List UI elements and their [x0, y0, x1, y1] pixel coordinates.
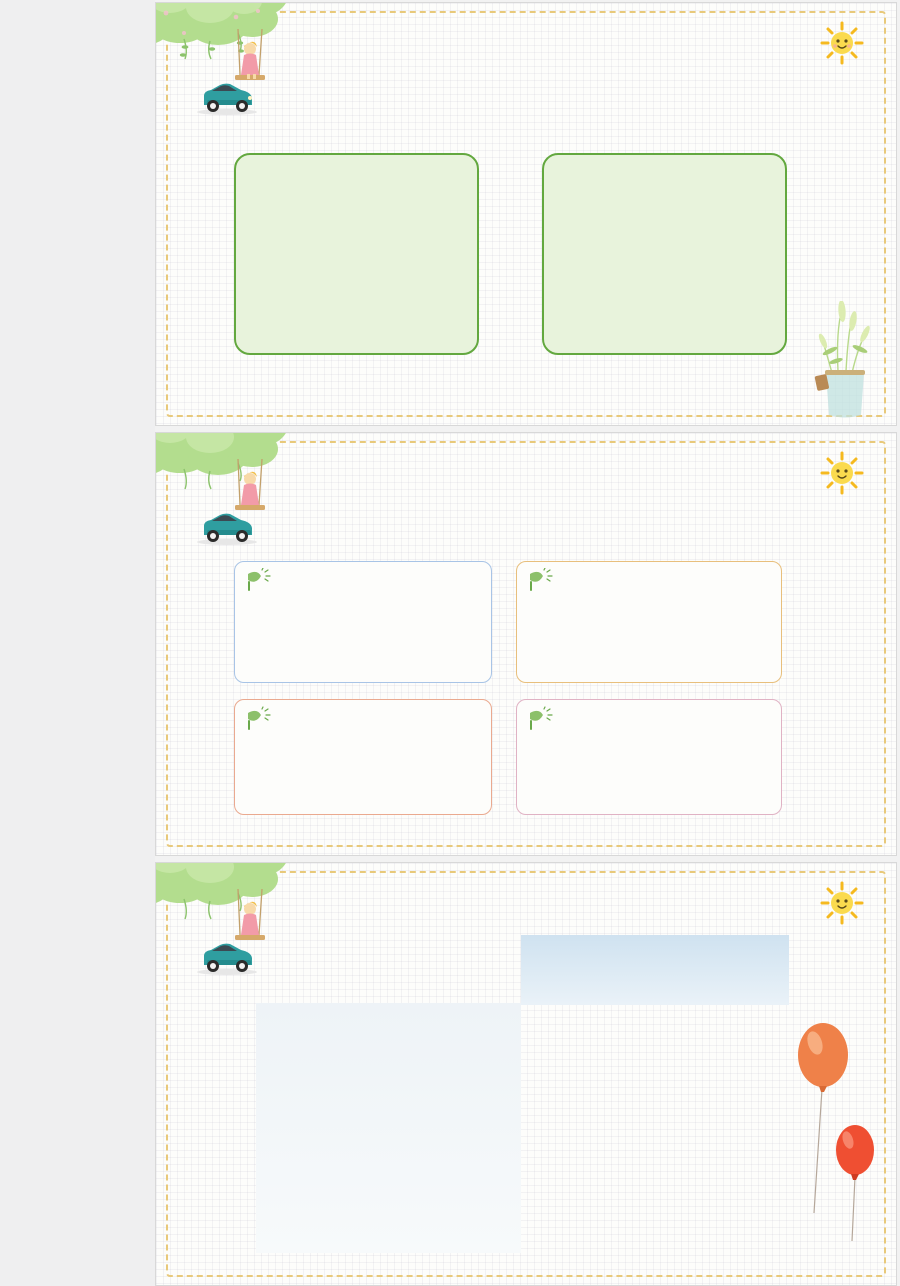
megaphone-icon: [527, 706, 553, 732]
megaphone-icon: [527, 568, 553, 592]
sun-icon: [820, 881, 864, 925]
goal-card-speak: [234, 561, 492, 683]
megaphone-icon: [245, 706, 271, 732]
toc-left-panel-bg: [256, 1003, 521, 1253]
goal-card-calculate: [516, 561, 782, 683]
car-icon: [194, 941, 260, 975]
slide-class-goals[interactable]: [155, 432, 897, 856]
presentation-viewer: [0, 0, 900, 1286]
sun-icon: [820, 21, 864, 65]
car-icon: [194, 81, 260, 115]
green-card-math: [234, 153, 479, 355]
goal-card-header: [245, 568, 481, 592]
goal-card-header: [527, 706, 771, 732]
goal-card-write: [234, 699, 492, 815]
megaphone-icon: [245, 568, 271, 592]
sun-icon: [820, 451, 864, 495]
car-icon: [194, 511, 260, 545]
goal-card-think: [516, 699, 782, 815]
balloons-icon: [792, 1013, 880, 1243]
green-card-chinese: [542, 153, 787, 355]
goal-card-header: [245, 706, 481, 732]
slide-canvas-area: [155, 0, 900, 1286]
slide-teaching-philosophy[interactable]: [155, 2, 897, 426]
slide-knowledge-points[interactable]: [155, 862, 897, 1286]
plant-vase-icon: [808, 301, 882, 419]
goal-card-header: [527, 568, 771, 592]
toc-right-panel-bg: [521, 935, 789, 1005]
slide-thumbnail-sidebar[interactable]: [0, 0, 155, 1286]
